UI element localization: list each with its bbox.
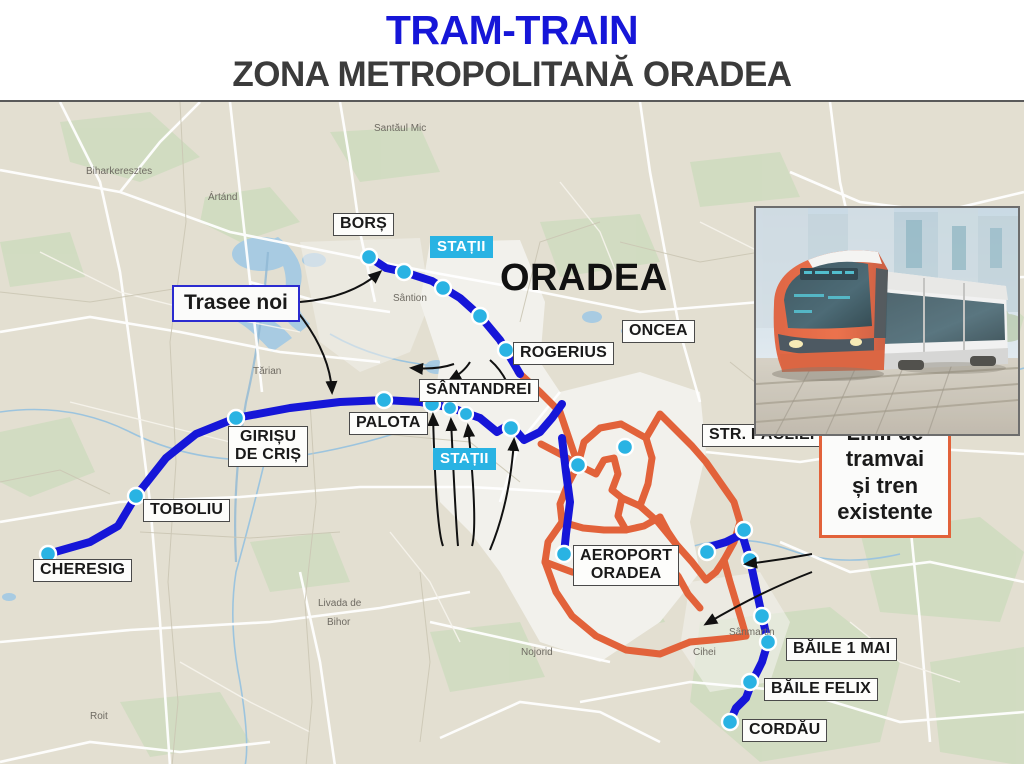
station-label-rogerius[interactable]: ROGERIUS	[513, 342, 614, 365]
page-subtitle: ZONA METROPOLITANĂ ORADEA	[0, 54, 1024, 96]
station-label-oncea[interactable]: ONCEA	[622, 320, 695, 343]
station-label-palota[interactable]: PALOTA	[349, 412, 428, 435]
statii-badge-west[interactable]: STAȚII	[433, 448, 496, 470]
callout-trasee-noi[interactable]: Trasee noi	[172, 285, 300, 322]
station-label-line2: ORADEA	[591, 565, 662, 582]
poster-root: TRAM-TRAIN ZONA METROPOLITANĂ ORADEA	[0, 0, 1024, 764]
station-label-cordau[interactable]: CORDĂU	[742, 719, 827, 742]
statii-badge-north[interactable]: STAȚII	[430, 236, 493, 258]
station-label-bors[interactable]: BORȘ	[333, 213, 394, 236]
station-label-line1: GIRIȘU	[240, 428, 296, 445]
station-label-toboliu[interactable]: TOBOLIU	[143, 499, 230, 522]
tram-photo	[754, 206, 1020, 436]
poster-header: TRAM-TRAIN ZONA METROPOLITANĂ ORADEA	[0, 0, 1024, 100]
station-label-baile-1-mai[interactable]: BĂILE 1 MAI	[786, 638, 897, 661]
station-label-line2: DE CRIȘ	[235, 446, 301, 463]
callout-trasee-noi-label: Trasee noi	[184, 291, 288, 314]
station-label-santandrei[interactable]: SÂNTANDREI	[419, 379, 539, 402]
station-label-baile-felix[interactable]: BĂILE FELIX	[764, 678, 878, 701]
city-name-oradea: ORADEA	[500, 257, 668, 300]
station-label-cheresig[interactable]: CHERESIG	[33, 559, 132, 582]
map-canvas[interactable]: Santăul Mic Biharkeresztes Ártánd Sântio…	[0, 100, 1024, 764]
callout-line-4: existente	[834, 499, 936, 525]
page-title: TRAM-TRAIN	[0, 0, 1024, 54]
tram-photo-art	[756, 208, 1018, 434]
station-label-line1: AEROPORT	[580, 547, 672, 564]
callout-line-3: și tren	[834, 473, 936, 499]
callout-line-2: tramvai	[834, 446, 936, 472]
station-label-aeroport-oradea[interactable]: AEROPORT ORADEA	[573, 545, 679, 586]
station-label-girisu-de-cris[interactable]: GIRIȘU DE CRIȘ	[228, 426, 308, 467]
